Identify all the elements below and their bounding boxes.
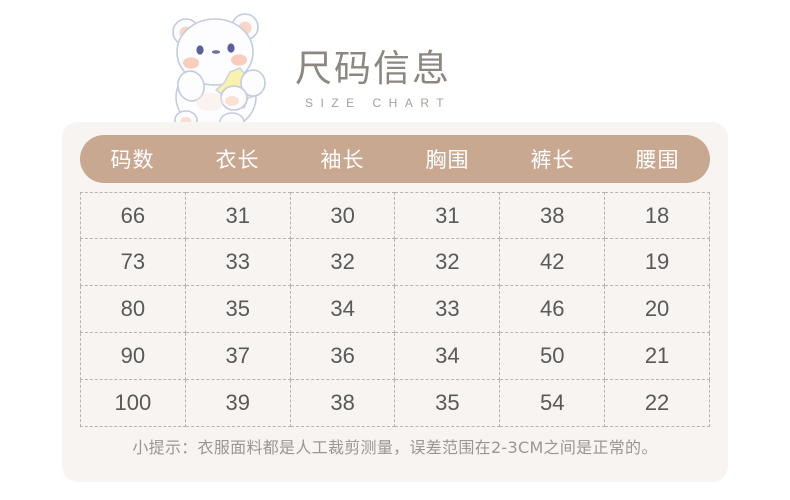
cell-waist: 18 (605, 192, 710, 239)
table-row: 66 31 30 31 38 18 (80, 192, 710, 239)
cell-clothing-length: 39 (186, 380, 291, 427)
column-header-pants-length: 裤长 (500, 144, 605, 174)
size-chart-panel: 码数 衣长 袖长 胸围 裤长 腰围 66 31 30 31 38 18 73 3… (62, 122, 728, 482)
cell-sleeve-length: 38 (291, 380, 396, 427)
cell-waist: 22 (605, 380, 710, 427)
table-body: 66 31 30 31 38 18 73 33 32 32 42 19 80 3… (80, 192, 710, 427)
cell-waist: 20 (605, 286, 710, 333)
measurement-note: 小提示：衣服面料都是人工裁剪测量，误差范围在2-3CM之间是正常的。 (80, 434, 710, 458)
table-row: 80 35 34 33 46 20 (80, 286, 710, 333)
cell-bust: 31 (395, 192, 500, 239)
size-chart-page: 尺码信息 SIZE CHART 码数 衣长 袖长 胸围 裤长 腰围 66 31 … (0, 0, 790, 500)
cell-pants-length: 46 (500, 286, 605, 333)
cell-sleeve-length: 30 (291, 192, 396, 239)
table-header-row: 码数 衣长 袖长 胸围 裤长 腰围 (80, 135, 710, 183)
cell-clothing-length: 31 (186, 192, 291, 239)
cell-size: 80 (80, 286, 186, 333)
page-title-block: 尺码信息 SIZE CHART (295, 46, 515, 110)
cell-clothing-length: 33 (186, 239, 291, 286)
column-header-bust: 胸围 (395, 144, 500, 174)
cell-pants-length: 38 (500, 192, 605, 239)
page-subtitle: SIZE CHART (295, 96, 515, 110)
column-header-size: 码数 (80, 144, 185, 174)
column-header-sleeve-length: 袖长 (290, 144, 395, 174)
page-title: 尺码信息 (295, 46, 515, 92)
cell-waist: 21 (605, 333, 710, 380)
cell-size: 66 (80, 192, 186, 239)
cell-bust: 33 (395, 286, 500, 333)
cell-clothing-length: 37 (186, 333, 291, 380)
cell-bust: 32 (395, 239, 500, 286)
table-row: 100 39 38 35 54 22 (80, 380, 710, 427)
table-row: 90 37 36 34 50 21 (80, 333, 710, 380)
table-row: 73 33 32 32 42 19 (80, 239, 710, 286)
cell-sleeve-length: 36 (291, 333, 396, 380)
cell-waist: 19 (605, 239, 710, 286)
cell-sleeve-length: 32 (291, 239, 396, 286)
cell-bust: 35 (395, 380, 500, 427)
cell-clothing-length: 35 (186, 286, 291, 333)
cell-size: 100 (80, 380, 186, 427)
column-header-clothing-length: 衣长 (185, 144, 290, 174)
column-header-waist: 腰围 (605, 144, 710, 174)
cell-pants-length: 54 (500, 380, 605, 427)
cell-size: 73 (80, 239, 186, 286)
bear-with-star-icon (160, 10, 288, 138)
cell-pants-length: 42 (500, 239, 605, 286)
cell-size: 90 (80, 333, 186, 380)
title-area: 尺码信息 SIZE CHART (160, 8, 520, 133)
cell-sleeve-length: 34 (291, 286, 396, 333)
cell-bust: 34 (395, 333, 500, 380)
cell-pants-length: 50 (500, 333, 605, 380)
